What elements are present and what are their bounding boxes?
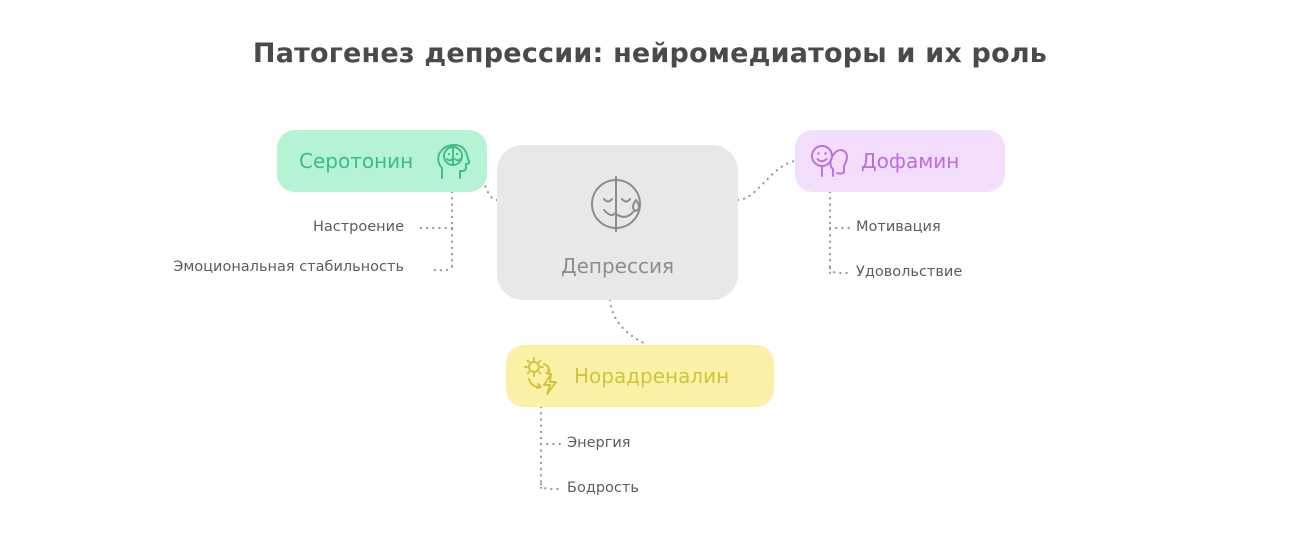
node-serotonin[interactable]: Серотонин (277, 130, 487, 192)
node-noradrenaline[interactable]: Норадреналин (506, 345, 774, 407)
sun-lightning-bolt-icon (520, 355, 564, 397)
connector-noradrenaline-leaf-2 (541, 484, 560, 489)
leaf-noradrenaline-vigor: Бодрость (567, 480, 639, 496)
leaf-noradrenaline-energy: Энергия (567, 435, 631, 451)
leaf-serotonin-emotional-stability: Эмоциональная стабильность (173, 259, 404, 275)
mindmap-canvas: Патогенез депрессии: нейромедиаторы и их… (0, 0, 1300, 546)
head-with-divided-face-icon (435, 141, 473, 181)
connector-dopamine-leaf-2 (830, 268, 849, 273)
leaf-serotonin-mood: Настроение (313, 219, 404, 235)
node-depression-label: Депрессия (561, 254, 674, 278)
connector-center-noradrenaline (610, 300, 648, 345)
leaf-dopamine-motivation: Мотивация (856, 219, 941, 235)
leaf-dopamine-pleasure: Удовольствие (856, 264, 962, 280)
node-serotonin-label: Серотонин (299, 149, 413, 173)
half-happy-half-sad-face-icon (582, 168, 654, 240)
connector-center-dopamine (738, 161, 795, 200)
connector-serotonin-leaf-2 (430, 266, 452, 270)
node-depression[interactable]: Депрессия (497, 145, 738, 300)
node-noradrenaline-label: Норадреналин (574, 364, 729, 388)
node-dopamine[interactable]: Дофамин (795, 130, 1005, 192)
node-dopamine-label: Дофамин (861, 149, 959, 173)
page-title: Патогенез депрессии: нейромедиаторы и их… (0, 38, 1300, 69)
head-with-smiley-icon (809, 141, 849, 181)
